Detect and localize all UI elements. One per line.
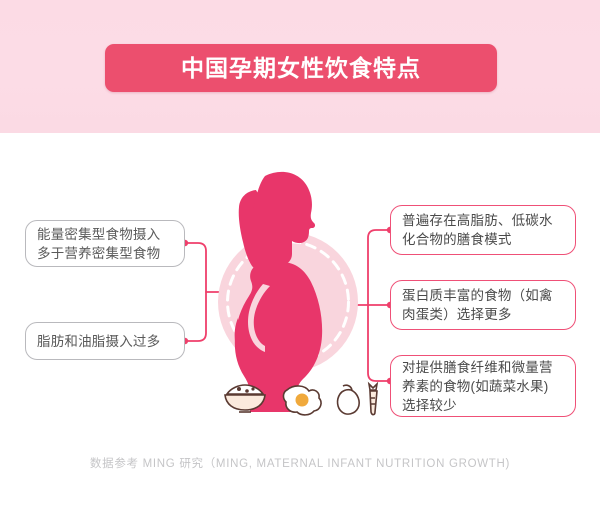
page-title: 中国孕期女性饮食特点 — [181, 57, 421, 80]
food-icon-row — [225, 384, 377, 415]
central-illustration — [195, 150, 385, 420]
callout-high-fat-low-carb-pattern[interactable]: 普遍存在高脂肪、低碳水 化合物的膳食模式 — [390, 205, 576, 255]
infographic-root: 中国孕期女性饮食特点 — [0, 0, 600, 505]
callout-text: 对提供膳食纤维和微量营 养素的食物(如蔬菜水果) 选择较少 — [402, 358, 553, 415]
callout-energy-dense-intake[interactable]: 能量密集型食物摄入 多于营养密集型食物 — [25, 220, 185, 267]
callout-excess-fat-oil[interactable]: 脂肪和油脂摄入过多 — [25, 322, 185, 360]
fried-egg-icon — [283, 386, 321, 415]
vegetables-icon — [338, 384, 377, 415]
callout-fiber-micronutrient-less[interactable]: 对提供膳食纤维和微量营 养素的食物(如蔬菜水果) 选择较少 — [390, 355, 576, 417]
callout-text: 蛋白质丰富的食物（如禽 肉蛋类）选择更多 — [402, 286, 553, 324]
callout-protein-rich-more[interactable]: 蛋白质丰富的食物（如禽 肉蛋类）选择更多 — [390, 280, 576, 330]
callout-text: 能量密集型食物摄入 多于营养密集型食物 — [37, 225, 160, 263]
title-banner: 中国孕期女性饮食特点 — [105, 44, 497, 92]
callout-text: 脂肪和油脂摄入过多 — [37, 332, 160, 351]
callout-text: 普遍存在高脂肪、低碳水 化合物的膳食模式 — [402, 211, 553, 249]
source-note: 数据参考 MING 研究（MING, MATERNAL INFANT NUTRI… — [0, 455, 600, 471]
